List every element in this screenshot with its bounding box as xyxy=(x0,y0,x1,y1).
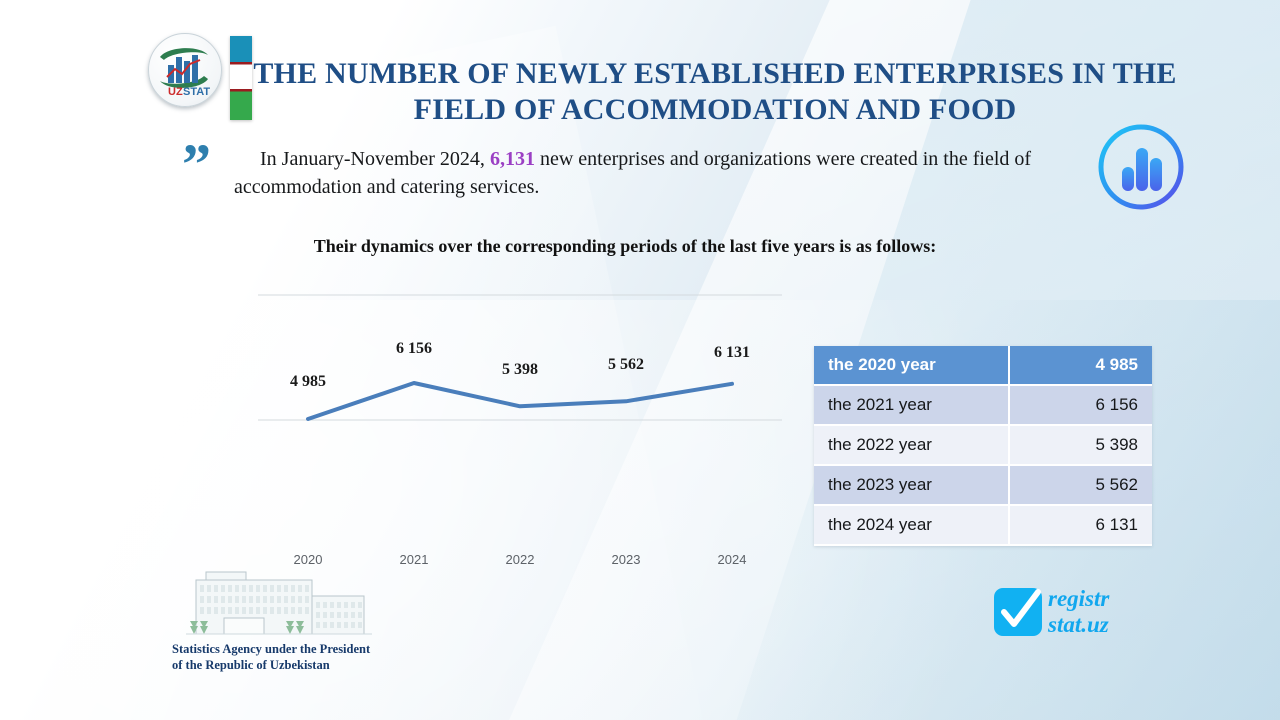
data-table: the 2020 year 4 985 the 2021 year 6 156 … xyxy=(814,346,1152,546)
infographic-slide: UZ STAT THE NUMBER OF NEWLY ESTABLISHED … xyxy=(0,0,1280,720)
x-tick-label: 2020 xyxy=(294,552,323,567)
x-tick-label: 2023 xyxy=(612,552,641,567)
table-cell-year: the 2020 year xyxy=(814,346,1010,386)
data-label: 6 131 xyxy=(714,344,750,362)
page-title: THE NUMBER OF NEWLY ESTABLISHED ENTERPRI… xyxy=(250,56,1180,128)
registrstat-logo[interactable]: registr stat.uz xyxy=(994,586,1174,642)
uzstat-logo-icon: UZ STAT xyxy=(148,33,220,105)
table-cell-year: the 2024 year xyxy=(814,506,1010,546)
logo-uz-text: UZ xyxy=(168,86,183,98)
subtitle-line: Their dynamics over the corresponding pe… xyxy=(230,236,1020,257)
table-cell-year: the 2023 year xyxy=(814,466,1010,506)
lede-paragraph: In January-November 2024, 6,131 new ente… xyxy=(234,145,1078,201)
line-chart-svg xyxy=(250,288,790,578)
table-cell-year: the 2022 year xyxy=(814,426,1010,466)
data-label: 6 156 xyxy=(396,340,432,358)
logo-stat-text: STAT xyxy=(183,86,210,98)
registrstat-line-1: registr xyxy=(1048,586,1109,612)
uzbekistan-flag-icon xyxy=(230,36,252,120)
lede-highlight: 6,131 xyxy=(490,148,535,170)
agency-line-2: of the Republic of Uzbekistan xyxy=(172,657,472,673)
government-building-icon xyxy=(186,568,372,644)
registrstat-line-2: stat.uz xyxy=(1048,612,1109,638)
lede-before: In January-November 2024, xyxy=(260,148,490,170)
table-row: the 2024 year 6 131 xyxy=(814,506,1152,546)
x-tick-label: 2024 xyxy=(718,552,747,567)
x-tick-label: 2021 xyxy=(400,552,429,567)
table-cell-year: the 2021 year xyxy=(814,386,1010,426)
table-cell-value: 6 131 xyxy=(1010,506,1152,546)
agency-line-1: Statistics Agency under the President xyxy=(172,641,472,657)
x-tick-label: 2022 xyxy=(506,552,535,567)
table-cell-value: 4 985 xyxy=(1010,346,1152,386)
line-series xyxy=(308,383,732,419)
table-cell-value: 5 398 xyxy=(1010,426,1152,466)
registrstat-wordmark: registr stat.uz xyxy=(1048,586,1109,638)
data-label: 4 985 xyxy=(290,373,326,391)
table-cell-value: 6 156 xyxy=(1010,386,1152,426)
table-row: the 2021 year 6 156 xyxy=(814,386,1152,426)
table-row: the 2020 year 4 985 xyxy=(814,346,1152,386)
line-chart: 4 985 6 156 5 398 5 562 6 131 2020 2021 … xyxy=(250,288,790,578)
table-row: the 2022 year 5 398 xyxy=(814,426,1152,466)
table-cell-value: 5 562 xyxy=(1010,466,1152,506)
quote-icon: ” xyxy=(182,136,211,194)
data-label: 5 398 xyxy=(502,361,538,379)
bar-chart-circle-icon xyxy=(1094,120,1188,214)
agency-caption: Statistics Agency under the President of… xyxy=(172,641,472,673)
uzstat-logo: UZ STAT xyxy=(148,33,220,111)
data-label: 5 562 xyxy=(608,356,644,374)
table-row: the 2023 year 5 562 xyxy=(814,466,1152,506)
